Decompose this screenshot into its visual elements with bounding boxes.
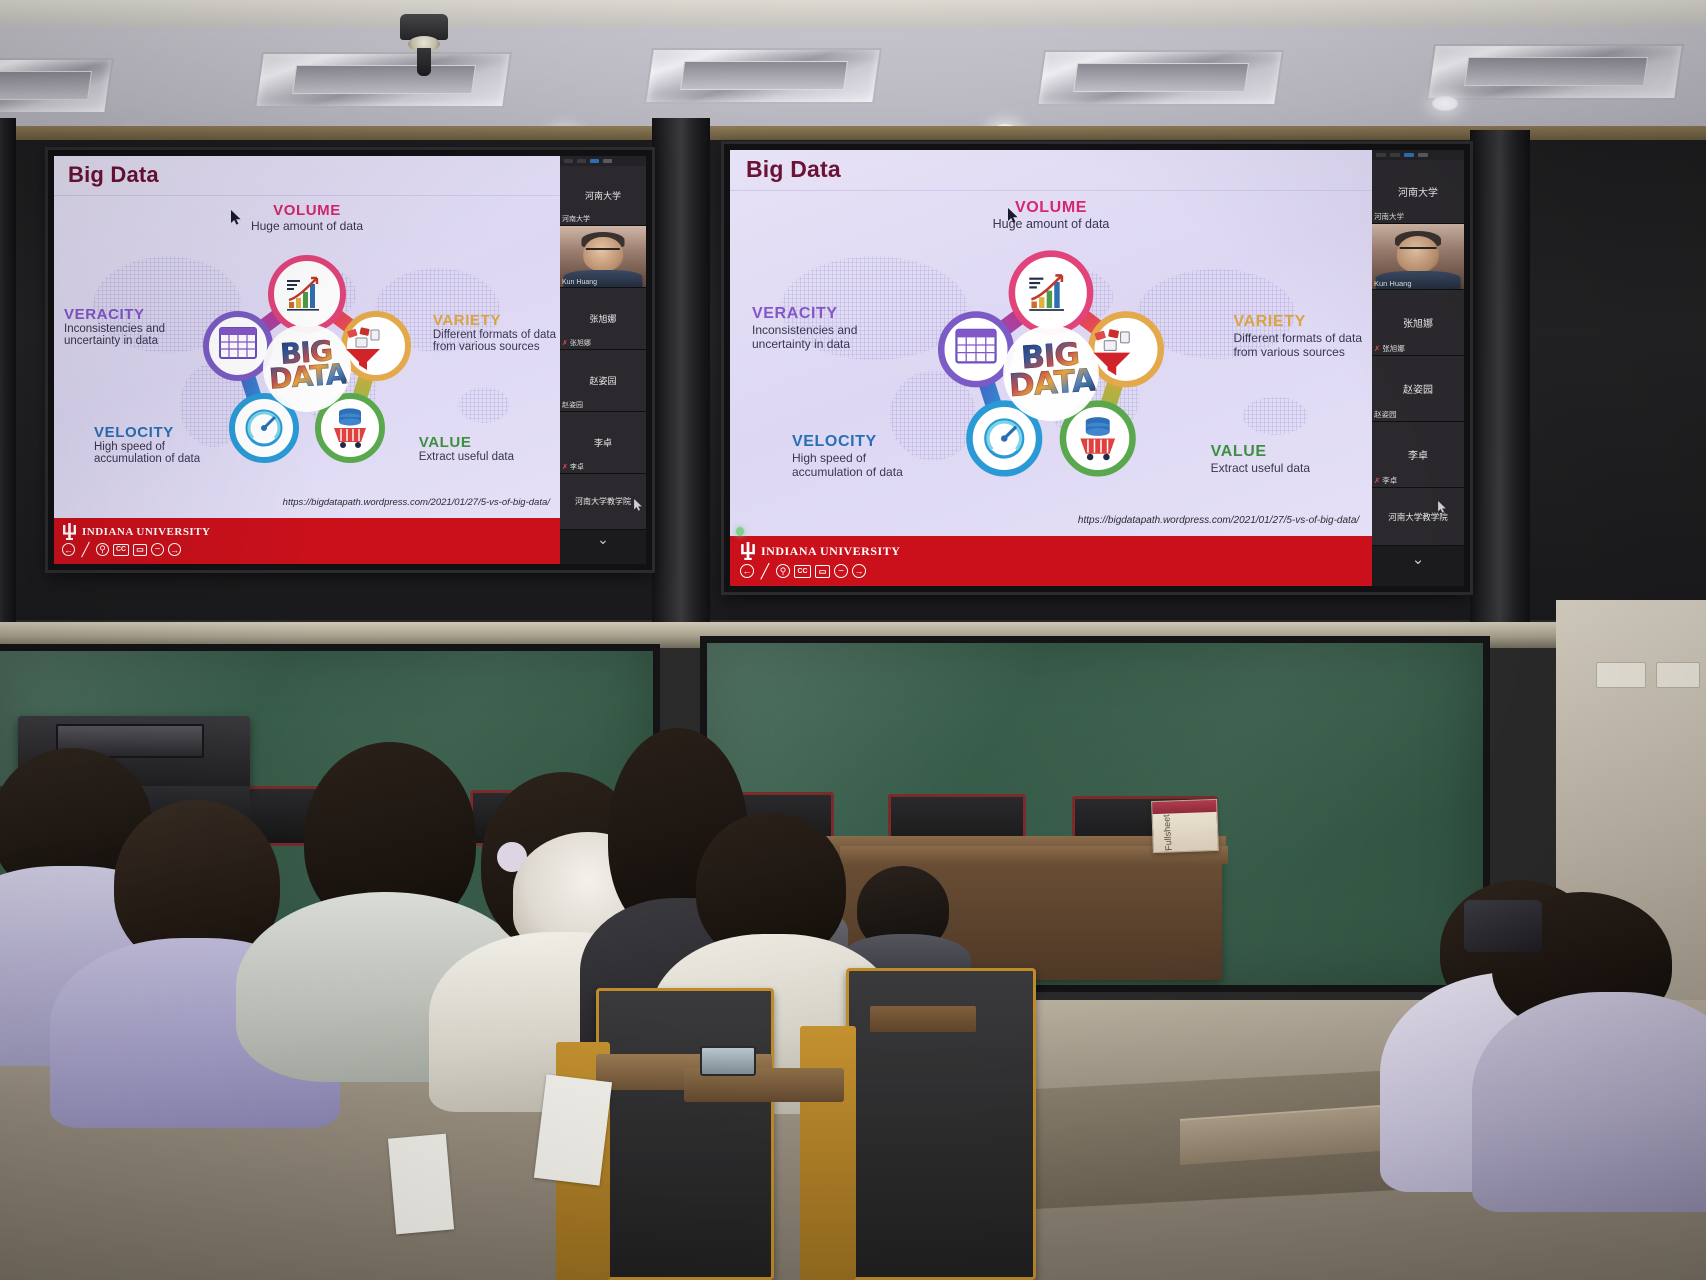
mic-muted-icon-2-r: ✗ (1374, 476, 1380, 485)
bigdata-line2-r: DATA (1008, 362, 1096, 404)
vc-tile-0-right[interactable]: 河南大学 河南大学 (1372, 160, 1464, 224)
label-velocity-left: VELOCITY High speed of accumulation of d… (94, 424, 200, 465)
vc-tile-4-name-r: 李卓 (1408, 447, 1428, 462)
left-wall-edge (0, 118, 16, 638)
student-paper-1[interactable] (534, 1074, 612, 1185)
projector-mount (417, 48, 431, 76)
label-variety-left: VARIETY Different formats of data from v… (433, 312, 556, 353)
label-value-desc: Extract useful data (419, 451, 514, 463)
five-vs-diagram-right: BIG DATA (926, 245, 1176, 495)
trident-icon (62, 523, 77, 540)
label-veracity-desc2: uncertainty in data (64, 335, 165, 347)
vc-tile-4-corner-name: 李卓 (570, 462, 584, 472)
iu-brand-name-left: INDIANA UNIVERSITY (82, 526, 211, 538)
vc-tile-3-name-r: 赵姿园 (1403, 381, 1433, 396)
close-icon-r[interactable] (1418, 153, 1428, 157)
right-wall-edge (1470, 130, 1530, 630)
vc-tile-3-corner-r: 赵姿园 (1374, 409, 1397, 420)
vc-tile-0-name: 河南大学 (585, 189, 621, 202)
label-value-desc-r: Extract useful data (1211, 461, 1310, 475)
vc-tile-2-corner-name: 张旭娜 (570, 338, 591, 348)
label-volume-desc: Huge amount of data (251, 219, 363, 233)
label-velocity-desc1-r: High speed of (792, 451, 903, 465)
vc-tile-1-corner-r: Kun Huang (1374, 279, 1412, 288)
vc-window-controls-left[interactable] (560, 156, 646, 166)
label-veracity-right: VERACITY Inconsistencies and uncertainty… (752, 305, 857, 351)
bigdata-line2: DATA (268, 357, 347, 395)
vc-tile-0-corner: 河南大学 (562, 214, 590, 224)
slide-toolbar-left[interactable]: ← ╱ ⚲ CC ▭ − → (62, 543, 552, 556)
vc-tile-3-name: 赵姿园 (589, 374, 616, 387)
seat-2-armrest (800, 1026, 856, 1280)
label-velocity-title: VELOCITY (94, 424, 200, 441)
glasses-icon (586, 248, 620, 253)
vc-tile-4-right[interactable]: 李卓 ✗ 李卓 (1372, 422, 1464, 488)
vc-tile-3-corner: 赵姿园 (562, 400, 583, 410)
vc-tile-4-corner: ✗ 李卓 (562, 462, 584, 472)
vc-tile-0-name-r: 河南大学 (1398, 184, 1438, 199)
ceiling-upper-band (0, 0, 1706, 26)
zoom-search-button-r[interactable]: ⚲ (776, 564, 790, 578)
slide-right: Big Data VOLUME Huge amount of data VERA… (730, 150, 1372, 586)
slide-body-left: VOLUME Huge amount of data VERACITY Inco… (54, 196, 560, 518)
slide-toolbar-right[interactable]: ← ╱ ⚲ CC ▭ − → (740, 564, 1362, 578)
mic-muted-icon-r: ✗ (1374, 344, 1380, 353)
label-velocity-desc1: High speed of (94, 441, 200, 453)
label-veracity-title-r: VERACITY (752, 305, 857, 323)
vc-tile-0-left[interactable]: 河南大学 河南大学 (560, 166, 646, 226)
vc-tile-2-name: 张旭娜 (589, 312, 616, 325)
next-slide-button[interactable]: → (168, 543, 181, 556)
vc-tile-2-left[interactable]: 张旭娜 ✗ 张旭娜 (560, 288, 646, 350)
vc-tile-4-corner-name-r: 李卓 (1382, 475, 1397, 486)
presenter-view-button-r[interactable]: ▭ (815, 565, 830, 578)
presenter-view-button[interactable]: ▭ (133, 544, 147, 556)
student-device-screen[interactable] (700, 1046, 756, 1076)
spreadsheet-grid-icon-right (956, 329, 995, 362)
vc-tile-2-name-r: 张旭娜 (1403, 315, 1433, 330)
desk-book[interactable]: Fullsheet (1151, 799, 1219, 853)
slide-source-url-right: https://bigdatapath.wordpress.com/2021/0… (1078, 515, 1359, 526)
next-slide-button-r[interactable]: → (852, 564, 866, 578)
vc-tile-1-left[interactable]: Kun Huang (560, 226, 646, 288)
participant-video-feed-left (560, 226, 646, 287)
iu-brand-name-right: INDIANA UNIVERSITY (761, 544, 900, 559)
wall-socket-1[interactable] (1596, 662, 1646, 688)
slide-title-left: Big Data (54, 156, 560, 196)
classroom-seat-1[interactable] (596, 988, 774, 1280)
trident-icon-right (740, 542, 756, 560)
label-velocity-right: VELOCITY High speed of accumulation of d… (792, 433, 903, 479)
label-variety-desc2-r: from various sources (1233, 345, 1362, 359)
label-veracity-desc2-r: uncertainty in data (752, 337, 857, 351)
green-status-led (736, 527, 744, 536)
label-veracity-left: VERACITY Inconsistencies and uncertainty… (64, 306, 165, 347)
mic-muted-icon-2: ✗ (562, 463, 568, 471)
vc-tile-2-corner: ✗ 张旭娜 (562, 338, 591, 348)
vc-tile-4-corner-wrap-r: ✗ 李卓 (1374, 475, 1397, 486)
vc-tile-3-left[interactable]: 赵姿园 赵姿园 (560, 350, 646, 412)
label-variety-desc1: Different formats of data (433, 329, 556, 341)
ceiling-projector (400, 14, 448, 74)
participant-head-r (1397, 236, 1439, 272)
mouse-pointer-wall-left (634, 498, 643, 516)
label-variety-title: VARIETY (433, 312, 556, 329)
label-value-title: VALUE (419, 434, 514, 451)
vc-tile-5-right[interactable]: 河南大学教学院 (1372, 488, 1464, 546)
vc-tile-4-left[interactable]: 李卓 ✗ 李卓 (560, 412, 646, 474)
bigdata-wordmark-left: BIG DATA (267, 338, 348, 391)
air-vent-5 (1426, 44, 1684, 100)
lecture-hall-photo: Big Data VOLUME Huge amount of data VERA… (0, 0, 1706, 1280)
right-projection-screen[interactable]: Big Data VOLUME Huge amount of data VERA… (724, 144, 1470, 592)
vc-window-controls-right[interactable] (1372, 150, 1464, 160)
label-velocity-title-r: VELOCITY (792, 433, 903, 451)
vc-tile-4-name: 李卓 (594, 436, 612, 449)
air-vent-3 (644, 48, 882, 104)
vc-tile-5-name: 河南大学教学院 (575, 496, 631, 507)
vc-tile-3-right[interactable]: 赵姿园 赵姿园 (1372, 356, 1464, 422)
blank-screen-button[interactable]: − (151, 543, 164, 556)
five-vs-diagram-left: BIG DATA (192, 250, 422, 480)
label-velocity-desc2: accumulation of data (94, 453, 200, 465)
student-8-coat (1472, 992, 1706, 1212)
center-pillar (652, 118, 710, 638)
previous-slide-button[interactable]: ← (62, 543, 75, 556)
maximize-icon[interactable] (577, 159, 586, 163)
left-projection-screen[interactable]: Big Data VOLUME Huge amount of data VERA… (48, 150, 652, 570)
wall-socket-2[interactable] (1656, 662, 1700, 688)
label-value-left: VALUE Extract useful data (419, 434, 514, 463)
mic-muted-icon: ✗ (562, 339, 568, 347)
bigdata-wordmark-right: BIG DATA (1006, 340, 1096, 399)
vc-tile-2-right[interactable]: 张旭娜 ✗ 张旭娜 (1372, 290, 1464, 356)
label-volume-title: VOLUME (251, 202, 363, 219)
vc-tile-2-corner-name-r: 张旭娜 (1382, 343, 1405, 354)
label-variety-title-r: VARIETY (1233, 313, 1362, 331)
chevron-down-icon-right[interactable]: ⌄ (1412, 550, 1425, 568)
label-veracity-desc1-r: Inconsistencies and (752, 323, 857, 337)
minimize-icon[interactable] (564, 159, 573, 163)
air-vent-4 (1036, 50, 1284, 106)
label-value-title-r: VALUE (1211, 443, 1310, 461)
closed-captions-button-r[interactable]: CC (794, 565, 811, 578)
slide-body-right: VOLUME Huge amount of data VERACITY Inco… (730, 191, 1372, 536)
label-variety-desc2: from various sources (433, 341, 556, 353)
vc-tile-1-corner: Kun Huang (562, 279, 597, 286)
book-spine (1152, 800, 1216, 814)
label-variety-right: VARIETY Different formats of data from v… (1233, 313, 1362, 359)
blank-screen-button-r[interactable]: − (834, 564, 848, 578)
zoom-search-button[interactable]: ⚲ (96, 543, 109, 556)
mouse-pointer-left-slide (231, 210, 242, 230)
book-label: Fullsheet (1161, 814, 1174, 851)
slide-left: Big Data VOLUME Huge amount of data VERA… (54, 156, 560, 564)
restore-icon[interactable] (590, 159, 599, 163)
iu-brand-row-right: INDIANA UNIVERSITY (740, 542, 1362, 560)
slide-source-url-left: https://bigdatapath.wordpress.com/2021/0… (283, 497, 550, 508)
label-variety-desc1-r: Different formats of data (1233, 331, 1362, 345)
vc-tile-2-corner-wrap-r: ✗ 张旭娜 (1374, 343, 1405, 354)
label-velocity-desc2-r: accumulation of data (792, 465, 903, 479)
slide-title-right: Big Data (730, 150, 1372, 191)
previous-slide-button-r[interactable]: ← (740, 564, 754, 578)
restore-icon-r[interactable] (1404, 153, 1414, 157)
participant-head (583, 237, 623, 271)
mouse-pointer-wall-right (1438, 500, 1447, 518)
chevron-down-icon-left[interactable]: ⌄ (597, 531, 609, 548)
vc-tile-1-right[interactable]: Kun Huang (1372, 224, 1464, 290)
student-paper-2[interactable] (388, 1134, 454, 1235)
spreadsheet-grid-icon (220, 328, 256, 358)
bag-strap (1464, 900, 1542, 952)
glasses-icon-r (1400, 247, 1437, 253)
iu-footer-right: INDIANA UNIVERSITY ← ╱ ⚲ CC ▭ − → (730, 536, 1372, 586)
label-value-right: VALUE Extract useful data (1211, 443, 1310, 475)
air-vent-1 (0, 58, 114, 114)
minimize-icon-r[interactable] (1376, 153, 1386, 157)
iu-brand-row-left: INDIANA UNIVERSITY (62, 523, 552, 540)
maximize-icon-r[interactable] (1390, 153, 1400, 157)
ceiling-light-4 (1432, 96, 1458, 111)
label-veracity-title: VERACITY (64, 306, 165, 323)
pen-annotate-button-r[interactable]: ╱ (758, 564, 772, 578)
mouse-pointer-right-slide (1008, 208, 1019, 228)
iu-footer-left: INDIANA UNIVERSITY ← ╱ ⚲ CC ▭ − → (54, 518, 560, 564)
video-conference-panel-right[interactable]: 河南大学 河南大学 Kun Huang 张旭娜 ✗ 张旭娜 (1372, 150, 1464, 586)
vc-tile-0-corner-r: 河南大学 (1374, 211, 1404, 222)
closed-captions-button[interactable]: CC (113, 544, 129, 556)
label-veracity-desc1: Inconsistencies and (64, 323, 165, 335)
label-volume-left: VOLUME Huge amount of data (251, 202, 363, 233)
air-vent-2 (254, 52, 512, 108)
seat-2-tablet-desk[interactable] (870, 1006, 976, 1032)
pen-annotate-button[interactable]: ╱ (79, 543, 92, 556)
close-icon[interactable] (603, 159, 612, 163)
